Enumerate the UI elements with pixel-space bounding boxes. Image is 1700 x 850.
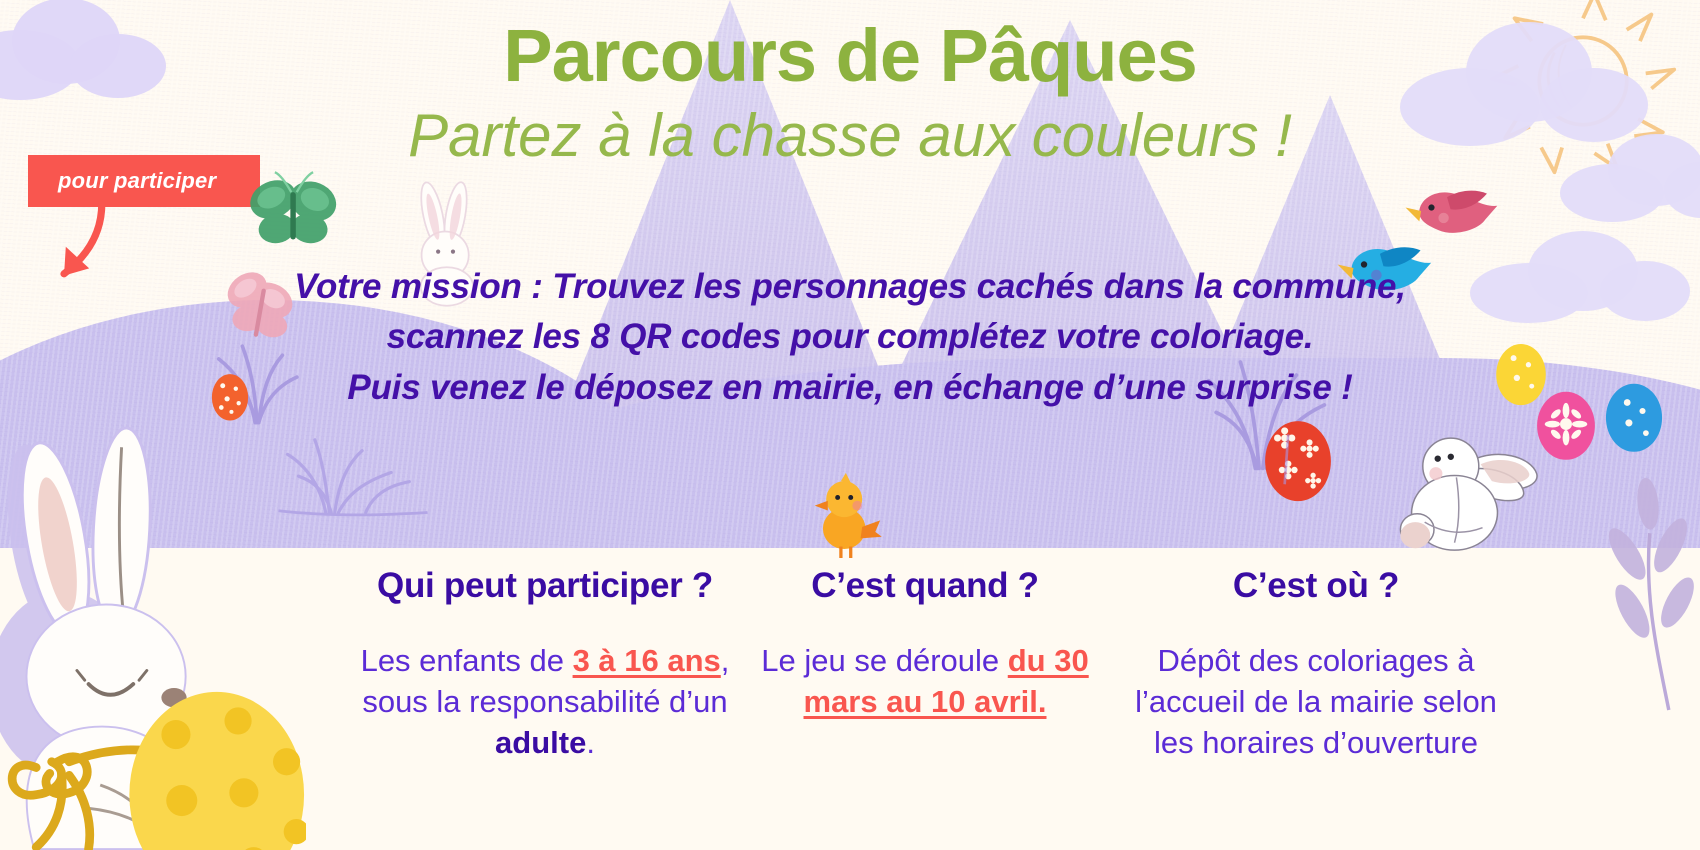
white-bunny-right-icon xyxy=(1378,412,1546,557)
white-bunny-large-icon xyxy=(0,392,306,850)
page-title: Parcours de Pâques xyxy=(0,18,1700,93)
column-where-heading: C’est où ? xyxy=(1112,566,1520,606)
column-who: Qui peut participer ? Les enfants de 3 à… xyxy=(330,566,760,764)
mission-text: Votre mission : Trouvez les personnages … xyxy=(0,262,1700,413)
column-who-heading: Qui peut participer ? xyxy=(330,566,760,606)
column-when-heading: C’est quand ? xyxy=(760,566,1090,606)
column-when: C’est quand ? Le jeu se déroule du 30 ma… xyxy=(760,566,1090,722)
yellow-chick-icon xyxy=(808,468,882,563)
red-flower-egg-icon xyxy=(1258,402,1338,511)
mission-line-2: scannez les 8 QR codes pour complétez vo… xyxy=(0,312,1700,362)
info-columns: Qui peut participer ? Les enfants de 3 à… xyxy=(330,566,1590,764)
column-when-body: Le jeu se déroule du 30 mars au 10 avril… xyxy=(760,640,1090,722)
badge-label: pour participer xyxy=(58,168,216,194)
who-bold: adulte xyxy=(495,725,586,760)
lavender-branch-icon xyxy=(1596,440,1700,725)
who-text-before: Les enfants de xyxy=(361,643,573,678)
column-where-body: Dépôt des coloriages à l’accueil de la m… xyxy=(1112,640,1520,764)
green-butterfly-icon xyxy=(244,168,344,265)
mission-line-1: Votre mission : Trouvez les personnages … xyxy=(0,262,1700,312)
easter-poster: Parcours de Pâques Partez à la chasse au… xyxy=(0,0,1700,850)
column-where: C’est où ? Dépôt des coloriages à l’accu… xyxy=(1090,566,1520,764)
column-who-body: Les enfants de 3 à 16 ans, sous la respo… xyxy=(330,640,760,764)
when-text-before: Le jeu se déroule xyxy=(761,643,1007,678)
who-text-after: . xyxy=(586,725,595,760)
who-highlight: 3 à 16 ans xyxy=(573,643,721,678)
